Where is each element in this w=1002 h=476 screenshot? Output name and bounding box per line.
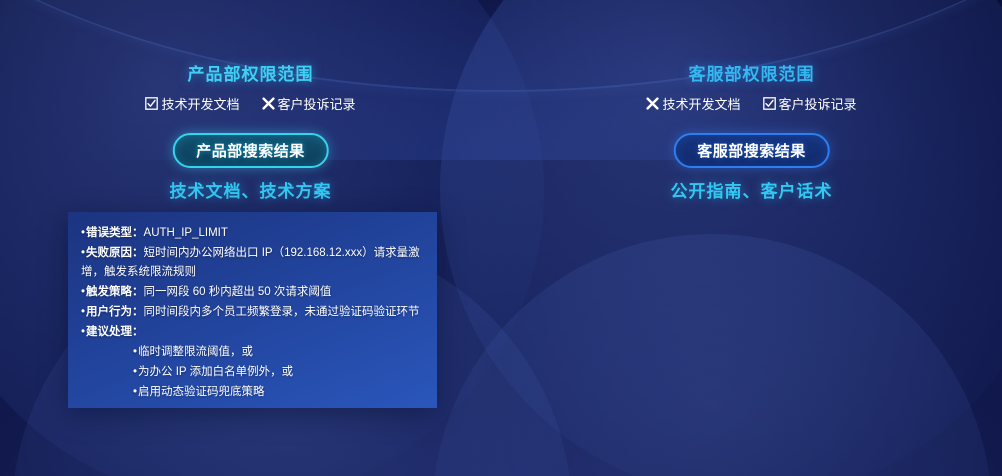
left-permission-item-0: 技术开发文档 — [145, 94, 239, 113]
cross-icon — [646, 97, 659, 110]
left-line-0: •错误类型：AUTH_IP_LIMIT — [81, 224, 424, 243]
column-service-dept: 客服部权限范围 技术开发文档 客户投诉记录 — [501, 0, 1002, 476]
right-permission-label-1: 客户投诉记录 — [779, 94, 857, 113]
left-search-result-pill[interactable]: 产品部搜索结果 — [172, 133, 329, 168]
right-permission-list: 技术开发文档 客户投诉记录 — [501, 94, 1002, 113]
left-line-2: •触发策略：同一网段 60 秒内超出 50 次请求阈值 — [81, 283, 424, 302]
left-line-7: •启用动态验证码兜底策略 — [81, 383, 424, 402]
left-line-5: •临时调整限流阈值，或 — [81, 343, 424, 362]
right-search-result-pill[interactable]: 客服部搜索结果 — [673, 133, 830, 168]
right-permission-label-0: 技术开发文档 — [662, 94, 740, 113]
left-line-3: •用户行为：同时间段内多个员工频繁登录，未通过验证码验证环节 — [81, 303, 424, 322]
right-section-title: 公开指南、客户话术 — [501, 177, 1002, 202]
left-detail-lines: •错误类型：AUTH_IP_LIMIT •失败原因：短时间内办公网络出口 IP（… — [68, 212, 437, 408]
cross-icon — [262, 97, 275, 110]
check-icon — [763, 97, 776, 110]
left-line-4: •建议处理： — [81, 323, 424, 342]
left-line-6: •为办公 IP 添加白名单例外，或 — [81, 363, 424, 382]
left-permission-label-1: 客户投诉记录 — [278, 94, 356, 113]
left-permission-list: 技术开发文档 客户投诉记录 — [0, 94, 501, 113]
right-permission-scope-title: 客服部权限范围 — [501, 60, 1002, 85]
right-permission-item-0: 技术开发文档 — [646, 94, 740, 113]
left-detail-panel: •错误类型：AUTH_IP_LIMIT •失败原因：短时间内办公网络出口 IP（… — [68, 212, 437, 408]
column-product-dept: 产品部权限范围 技术开发文档 客户投诉记录 — [0, 0, 501, 476]
left-permission-label-0: 技术开发文档 — [161, 94, 239, 113]
right-permission-item-1: 客户投诉记录 — [763, 94, 857, 113]
slide-canvas: 产品部权限范围 技术开发文档 客户投诉记录 — [0, 0, 1002, 476]
left-permission-item-1: 客户投诉记录 — [262, 94, 356, 113]
left-section-title: 技术文档、技术方案 — [0, 177, 501, 202]
check-icon — [145, 97, 158, 110]
left-line-1: •失败原因：短时间内办公网络出口 IP（192.168.12.xxx）请求量激增… — [81, 244, 424, 282]
left-permission-scope-title: 产品部权限范围 — [0, 60, 501, 85]
